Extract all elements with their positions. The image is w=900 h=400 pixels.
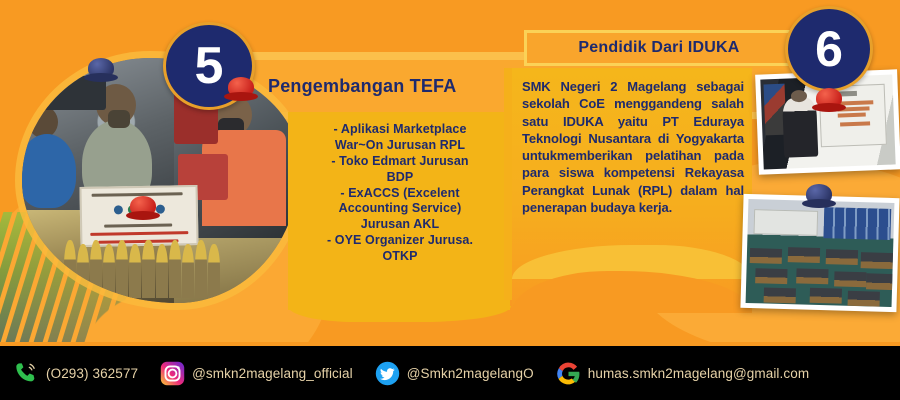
contact-twitter[interactable]: @Smkn2magelangO	[375, 361, 534, 386]
tefa-program-list-text: - Aplikasi Marketplace War~On Jurusan RP…	[294, 122, 506, 265]
tefa-program-list: - Aplikasi Marketplace War~On Jurusan RP…	[294, 122, 506, 265]
left-photo-cluster	[22, 58, 300, 303]
group-photo-batik-uniform	[64, 236, 220, 298]
contact-instagram[interactable]: @smkn2magelang_official	[160, 361, 353, 386]
contact-footer: (O293) 362577 @smkn2magelang_official	[0, 346, 900, 400]
contact-twitter-label: @Smkn2magelangO	[407, 366, 534, 381]
pushpin-red-icon	[228, 77, 258, 101]
phone-icon	[14, 361, 39, 386]
google-icon	[556, 361, 581, 386]
page-title-tefa: Pengembangan TEFA	[268, 64, 518, 108]
contact-email[interactable]: humas.smkn2magelang@gmail.com	[556, 361, 809, 386]
photo-computer-lab	[740, 194, 899, 312]
iduka-body-text: SMK Negeri 2 Magelang sebagai sekolah Co…	[522, 78, 744, 216]
contact-email-label: humas.smkn2magelang@gmail.com	[588, 366, 809, 381]
contact-phone[interactable]: (O293) 362577	[14, 361, 138, 386]
pushpin-red-icon	[816, 88, 846, 112]
twitter-icon	[375, 361, 400, 386]
contact-phone-label: (O293) 362577	[46, 366, 138, 381]
instagram-icon	[160, 361, 185, 386]
banner-title-iduka: Pendidik Dari IDUKA	[524, 30, 794, 66]
pushpin-red-icon	[130, 196, 160, 220]
pushpin-navy-icon	[806, 184, 836, 208]
contact-instagram-label: @smkn2magelang_official	[192, 366, 353, 381]
poster-canvas: Pengembangan TEFA - Aplikasi Marketplace…	[0, 0, 900, 400]
pushpin-navy-icon	[88, 58, 118, 82]
classroom-windows	[823, 207, 891, 240]
section-badge-5-number: 5	[195, 40, 224, 92]
whiteboard	[753, 210, 818, 237]
section-badge-6-number: 6	[815, 24, 843, 74]
section-badge-6: 6	[785, 6, 873, 92]
classroom-desks	[746, 245, 894, 307]
